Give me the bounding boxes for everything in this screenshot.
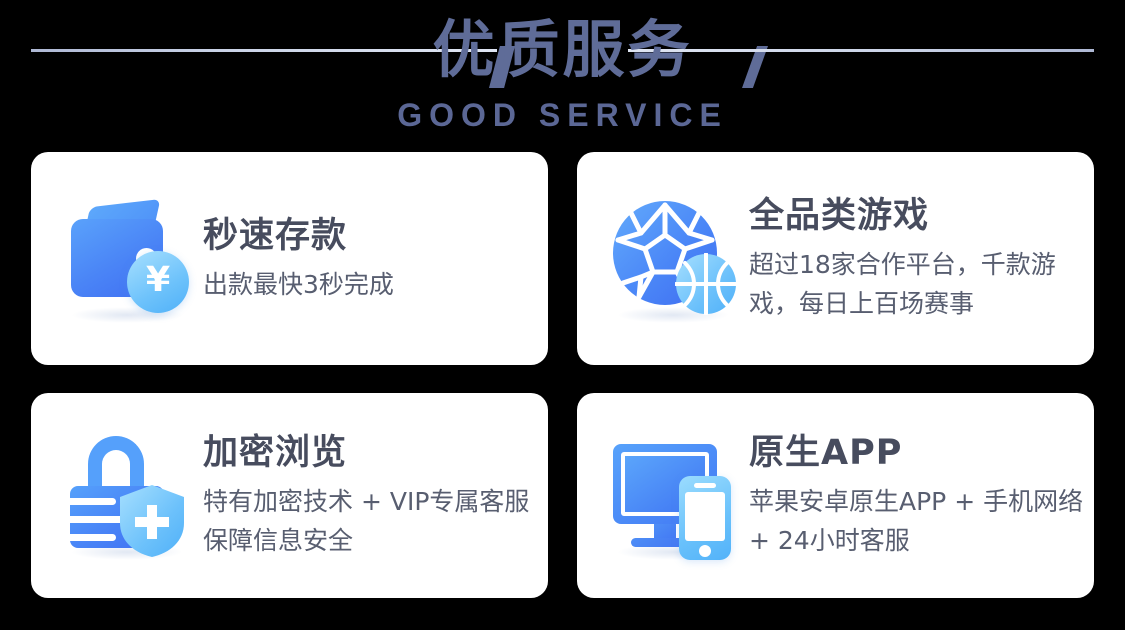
monitor-phone-icon — [607, 428, 743, 564]
page-header: 优质服务 GOOD SERVICE — [0, 0, 1125, 142]
service-card-all-games[interactable]: 全品类游戏 超过18家合作平台，千款游戏，每日上百场赛事 — [577, 152, 1094, 365]
card-title: 秒速存款 — [203, 214, 394, 258]
soccer-basketball-icon — [607, 191, 743, 327]
service-card-grid: ¥ 秒速存款 出款最快3秒完成 — [31, 152, 1094, 598]
basketball-icon — [675, 253, 737, 315]
smartphone-screen — [685, 492, 725, 541]
card-text-block: 秒速存款 出款最快3秒完成 — [203, 214, 394, 304]
service-card-instant-deposit[interactable]: ¥ 秒速存款 出款最快3秒完成 — [31, 152, 548, 365]
lock-stripe-icon — [70, 498, 116, 505]
service-card-encrypted-browsing[interactable]: 加密浏览 特有加密技术 + VIP专属客服保障信息安全 — [31, 393, 548, 598]
page-subtitle: GOOD SERVICE — [0, 97, 1125, 133]
yen-symbol: ¥ — [146, 263, 170, 298]
card-description: 超过18家合作平台，千款游戏，每日上百场赛事 — [749, 245, 1084, 323]
page-title: 优质服务 — [0, 11, 1125, 89]
card-description: 出款最快3秒完成 — [203, 265, 394, 304]
card-text-block: 加密浏览 特有加密技术 + VIP专属客服保障信息安全 — [203, 431, 538, 560]
card-text-block: 全品类游戏 超过18家合作平台，千款游戏，每日上百场赛事 — [749, 194, 1084, 323]
card-title: 加密浏览 — [203, 431, 538, 475]
lock-shield-icon — [61, 428, 197, 564]
card-title: 原生APP — [749, 431, 1084, 475]
smartphone-speaker — [694, 483, 716, 488]
card-title: 全品类游戏 — [749, 194, 1084, 238]
lock-stripe-icon — [70, 534, 116, 541]
shield-plus-icon — [118, 483, 186, 559]
yen-coin-icon: ¥ — [127, 251, 189, 313]
card-description: 特有加密技术 + VIP专属客服保障信息安全 — [203, 482, 538, 560]
service-card-native-app[interactable]: 原生APP 苹果安卓原生APP + 手机网络 + 24小时客服 — [577, 393, 1094, 598]
smartphone-home-button — [699, 545, 711, 557]
card-text-block: 原生APP 苹果安卓原生APP + 手机网络 + 24小时客服 — [749, 431, 1084, 560]
wallet-yen-icon: ¥ — [61, 191, 197, 327]
card-description: 苹果安卓原生APP + 手机网络 + 24小时客服 — [749, 482, 1084, 560]
